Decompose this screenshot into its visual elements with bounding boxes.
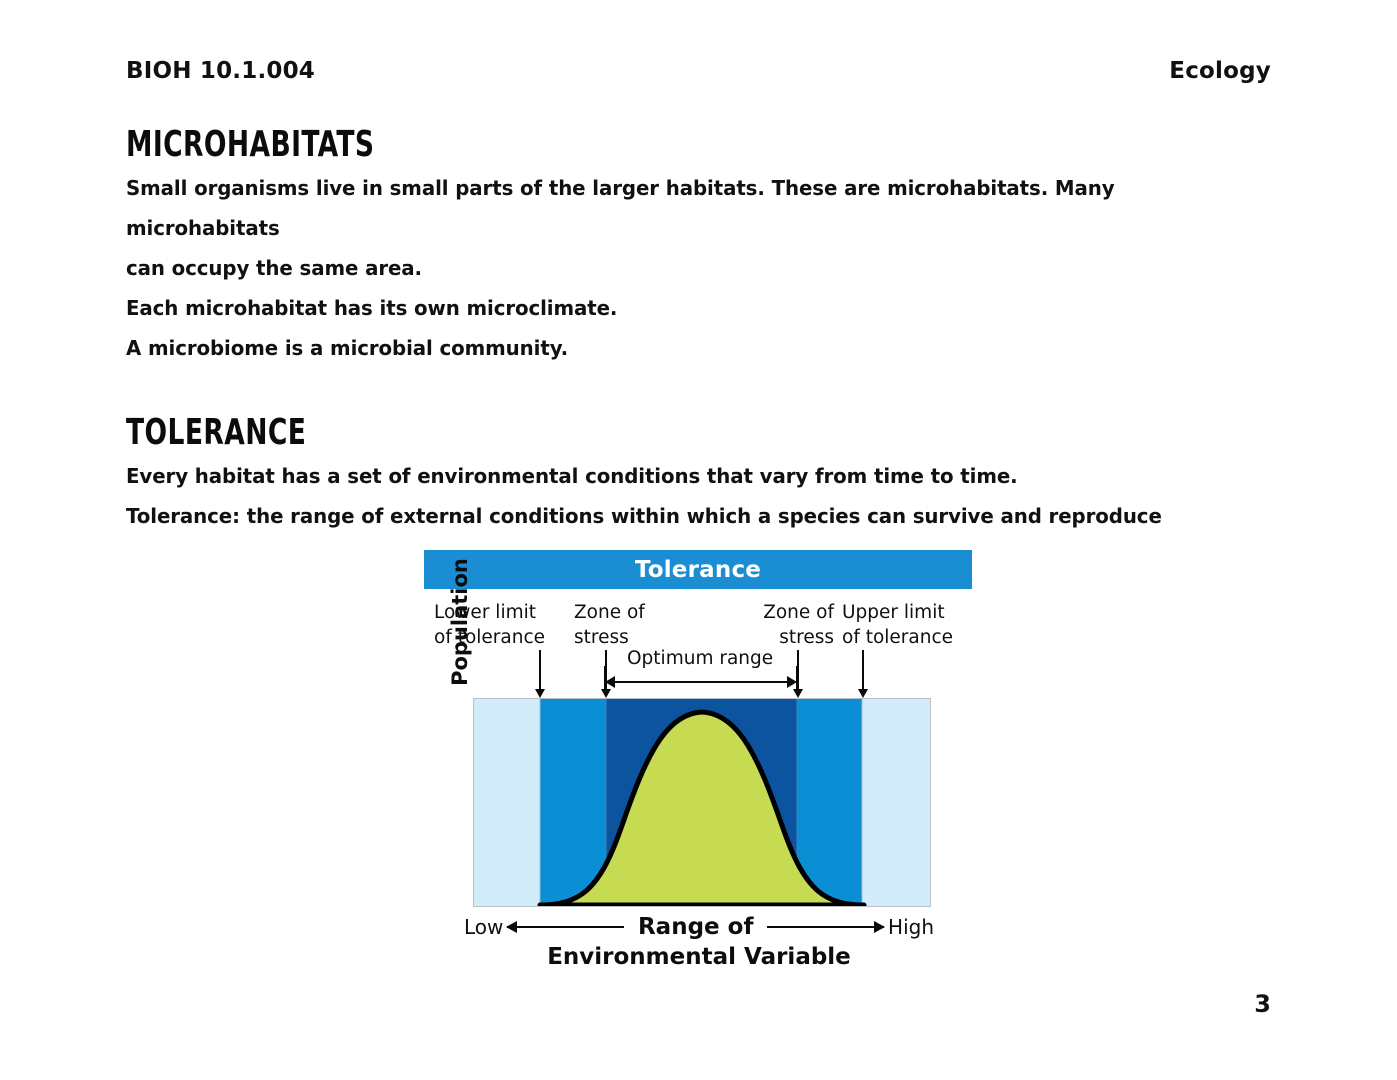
body-line: Tolerance: the range of external conditi… (126, 496, 1237, 536)
x-axis-title-line1: Range of (628, 914, 763, 940)
section-heading-microhabitats: MICROHABITATS (126, 126, 1070, 164)
callout-zone-of-stress-right: Zone of stress (739, 600, 834, 650)
band-below-lower-limit (474, 699, 540, 906)
optimum-range-bracket (604, 672, 798, 692)
topic-label: Ecology (1169, 58, 1271, 84)
x-axis: Low Range of High Environmental Variable (464, 912, 934, 972)
page-number: 3 (1254, 990, 1271, 1018)
body-line: A microbiome is a microbial community. (126, 328, 1237, 368)
leader-arrow-stress-left-icon (605, 650, 607, 690)
tolerance-figure: Tolerance Lower limit of tolerance Zone … (424, 550, 972, 960)
y-axis-label: Population (448, 558, 472, 686)
section-microhabitats: MICROHABITATS Small organisms live in sm… (126, 126, 1277, 368)
bracket-arrow-right-icon (787, 676, 797, 688)
leader-arrow-lower-limit-icon (539, 650, 541, 690)
bracket-bar (610, 681, 792, 683)
page-header: BIOH 10.1.004 Ecology (126, 58, 1271, 92)
figure-title: Tolerance (635, 557, 761, 583)
body-line: Each microhabitat has its own microclima… (126, 288, 1237, 328)
x-axis-low-label: Low (464, 915, 503, 939)
leader-arrow-upper-limit-icon (862, 650, 864, 690)
x-axis-title-line2: Environmental Variable (464, 944, 934, 970)
tolerance-curve-chart (474, 699, 930, 906)
band-above-upper-limit (862, 699, 930, 906)
x-axis-high-label: High (888, 915, 934, 939)
plot-area (473, 698, 931, 907)
leader-arrow-stress-right-icon (797, 650, 799, 690)
figure-title-bar: Tolerance (424, 550, 972, 589)
band-zone-of-stress-low (540, 699, 606, 906)
body-line: Every habitat has a set of environmental… (126, 456, 1237, 496)
callout-upper-limit: Upper limit of tolerance (842, 600, 972, 650)
callout-optimum-range: Optimum range (627, 648, 773, 669)
course-code: BIOH 10.1.004 (126, 58, 315, 84)
section-tolerance: TOLERANCE Every habitat has a set of env… (126, 414, 1277, 536)
section-heading-tolerance: TOLERANCE (126, 414, 1070, 452)
body-line: can occupy the same area. (126, 248, 1237, 288)
x-axis-right-arrow-icon (767, 926, 884, 928)
body-line: Small organisms live in small parts of t… (126, 168, 1237, 248)
x-axis-left-arrow-icon (507, 926, 624, 928)
callout-zone-of-stress-left: Zone of stress (574, 600, 674, 650)
